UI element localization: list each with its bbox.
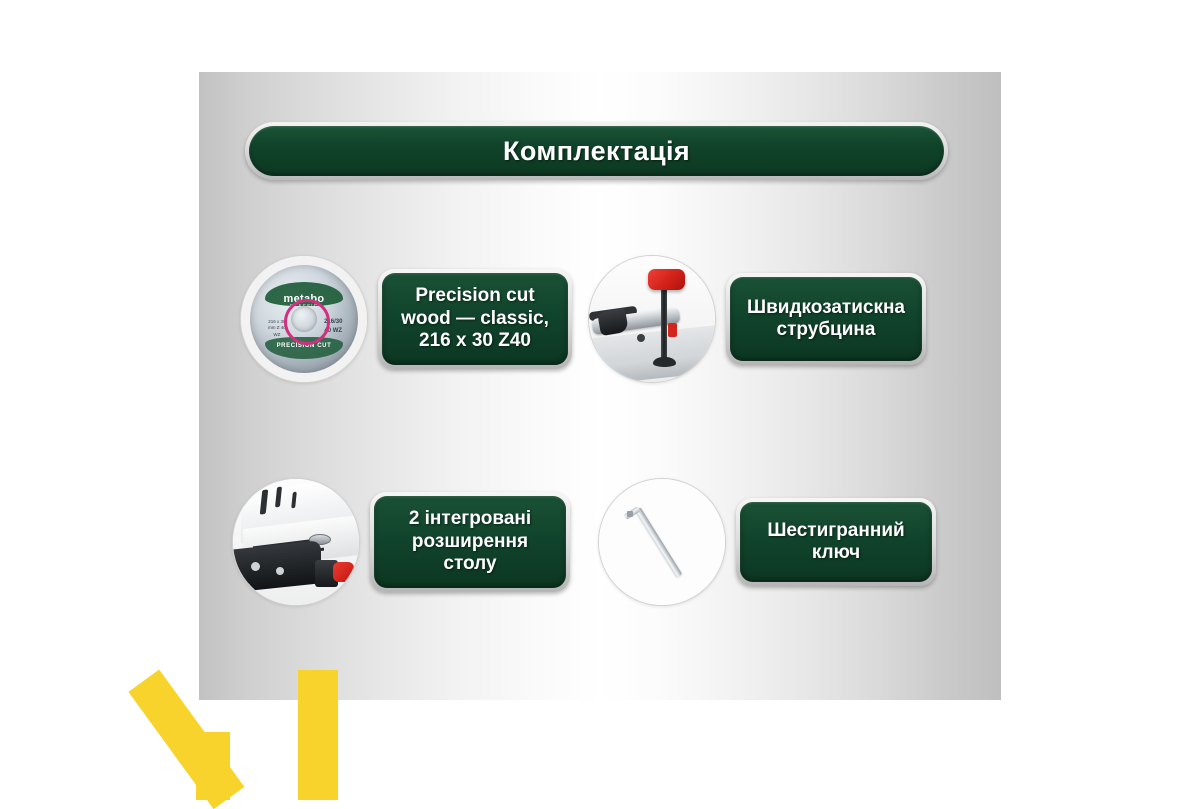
clamp-red-knob: [648, 269, 685, 290]
page-title: Комплектація: [503, 136, 690, 167]
bracket-hole: [251, 562, 260, 571]
photo-saw-blade: metabo CLASSIC 216 x 30 mm Z 40 WZ 216/3…: [240, 255, 368, 383]
label-plaque-quick-clamp: Швидкозатискна струбцина: [726, 273, 926, 365]
clamp-release-tab: [668, 323, 677, 337]
label-plaque-inner: Швидкозатискна струбцина: [730, 277, 922, 361]
item-label-saw-blade: Precision cut wood — classic, 216 x 30 Z…: [401, 285, 549, 352]
label-plaque-inner: Шестигранний ключ: [740, 502, 932, 582]
item-label-quick-clamp: Швидкозатискна струбцина: [747, 297, 905, 342]
bracket-hole: [276, 567, 284, 575]
item-quick-clamp: Швидкозатискна струбцина: [588, 255, 926, 383]
extension-bracket: [232, 540, 321, 592]
item-saw-blade: metabo CLASSIC 216 x 30 mm Z 40 WZ 216/3…: [240, 255, 572, 383]
brand-logo: [196, 660, 366, 800]
saw-blade-illustration: metabo CLASSIC 216 x 30 mm Z 40 WZ 216/3…: [241, 256, 367, 382]
item-label-table-extensions: 2 інтегровані розширення столу: [409, 508, 531, 575]
title-banner-inner: Комплектація: [249, 126, 944, 176]
label-plaque-inner: 2 інтегровані розширення столу: [374, 496, 566, 588]
quick-clamp-illustration: [589, 256, 715, 382]
clamp-head: [597, 308, 628, 336]
extension-red-knob: [333, 562, 354, 582]
item-table-extensions: 2 інтегровані розширення столу: [232, 478, 570, 606]
clamp-small-knob: [637, 334, 645, 342]
hex-key-illustration: [599, 479, 725, 605]
screenshot-root: Комплектація metabo CLASSIC 216 x 30 mm …: [0, 0, 1200, 800]
label-plaque-inner: Precision cut wood — classic, 216 x 30 Z…: [382, 273, 568, 365]
hex-key-long-arm: [635, 507, 683, 578]
clamp-foot: [653, 357, 676, 367]
blade-arbor-hole: [291, 306, 317, 332]
photo-quick-clamp: [588, 255, 716, 383]
label-plaque-hex-key: Шестигранний ключ: [736, 498, 936, 586]
label-plaque-table-extensions: 2 інтегровані розширення столу: [370, 492, 570, 592]
blade-body: metabo CLASSIC 216 x 30 mm Z 40 WZ 216/3…: [250, 265, 358, 373]
hex-key-tip: [627, 511, 633, 517]
logo-bar-right: [298, 670, 338, 800]
photo-hex-key: [598, 478, 726, 606]
title-banner: Комплектація: [245, 122, 948, 180]
photo-table-extensions: [232, 478, 360, 606]
item-label-hex-key: Шестигранний ключ: [767, 520, 904, 565]
table-extension-illustration: [233, 479, 359, 605]
label-plaque-saw-blade: Precision cut wood — classic, 216 x 30 Z…: [378, 269, 572, 369]
clamp-stem: [661, 284, 667, 362]
item-hex-key: Шестигранний ключ: [598, 478, 936, 606]
